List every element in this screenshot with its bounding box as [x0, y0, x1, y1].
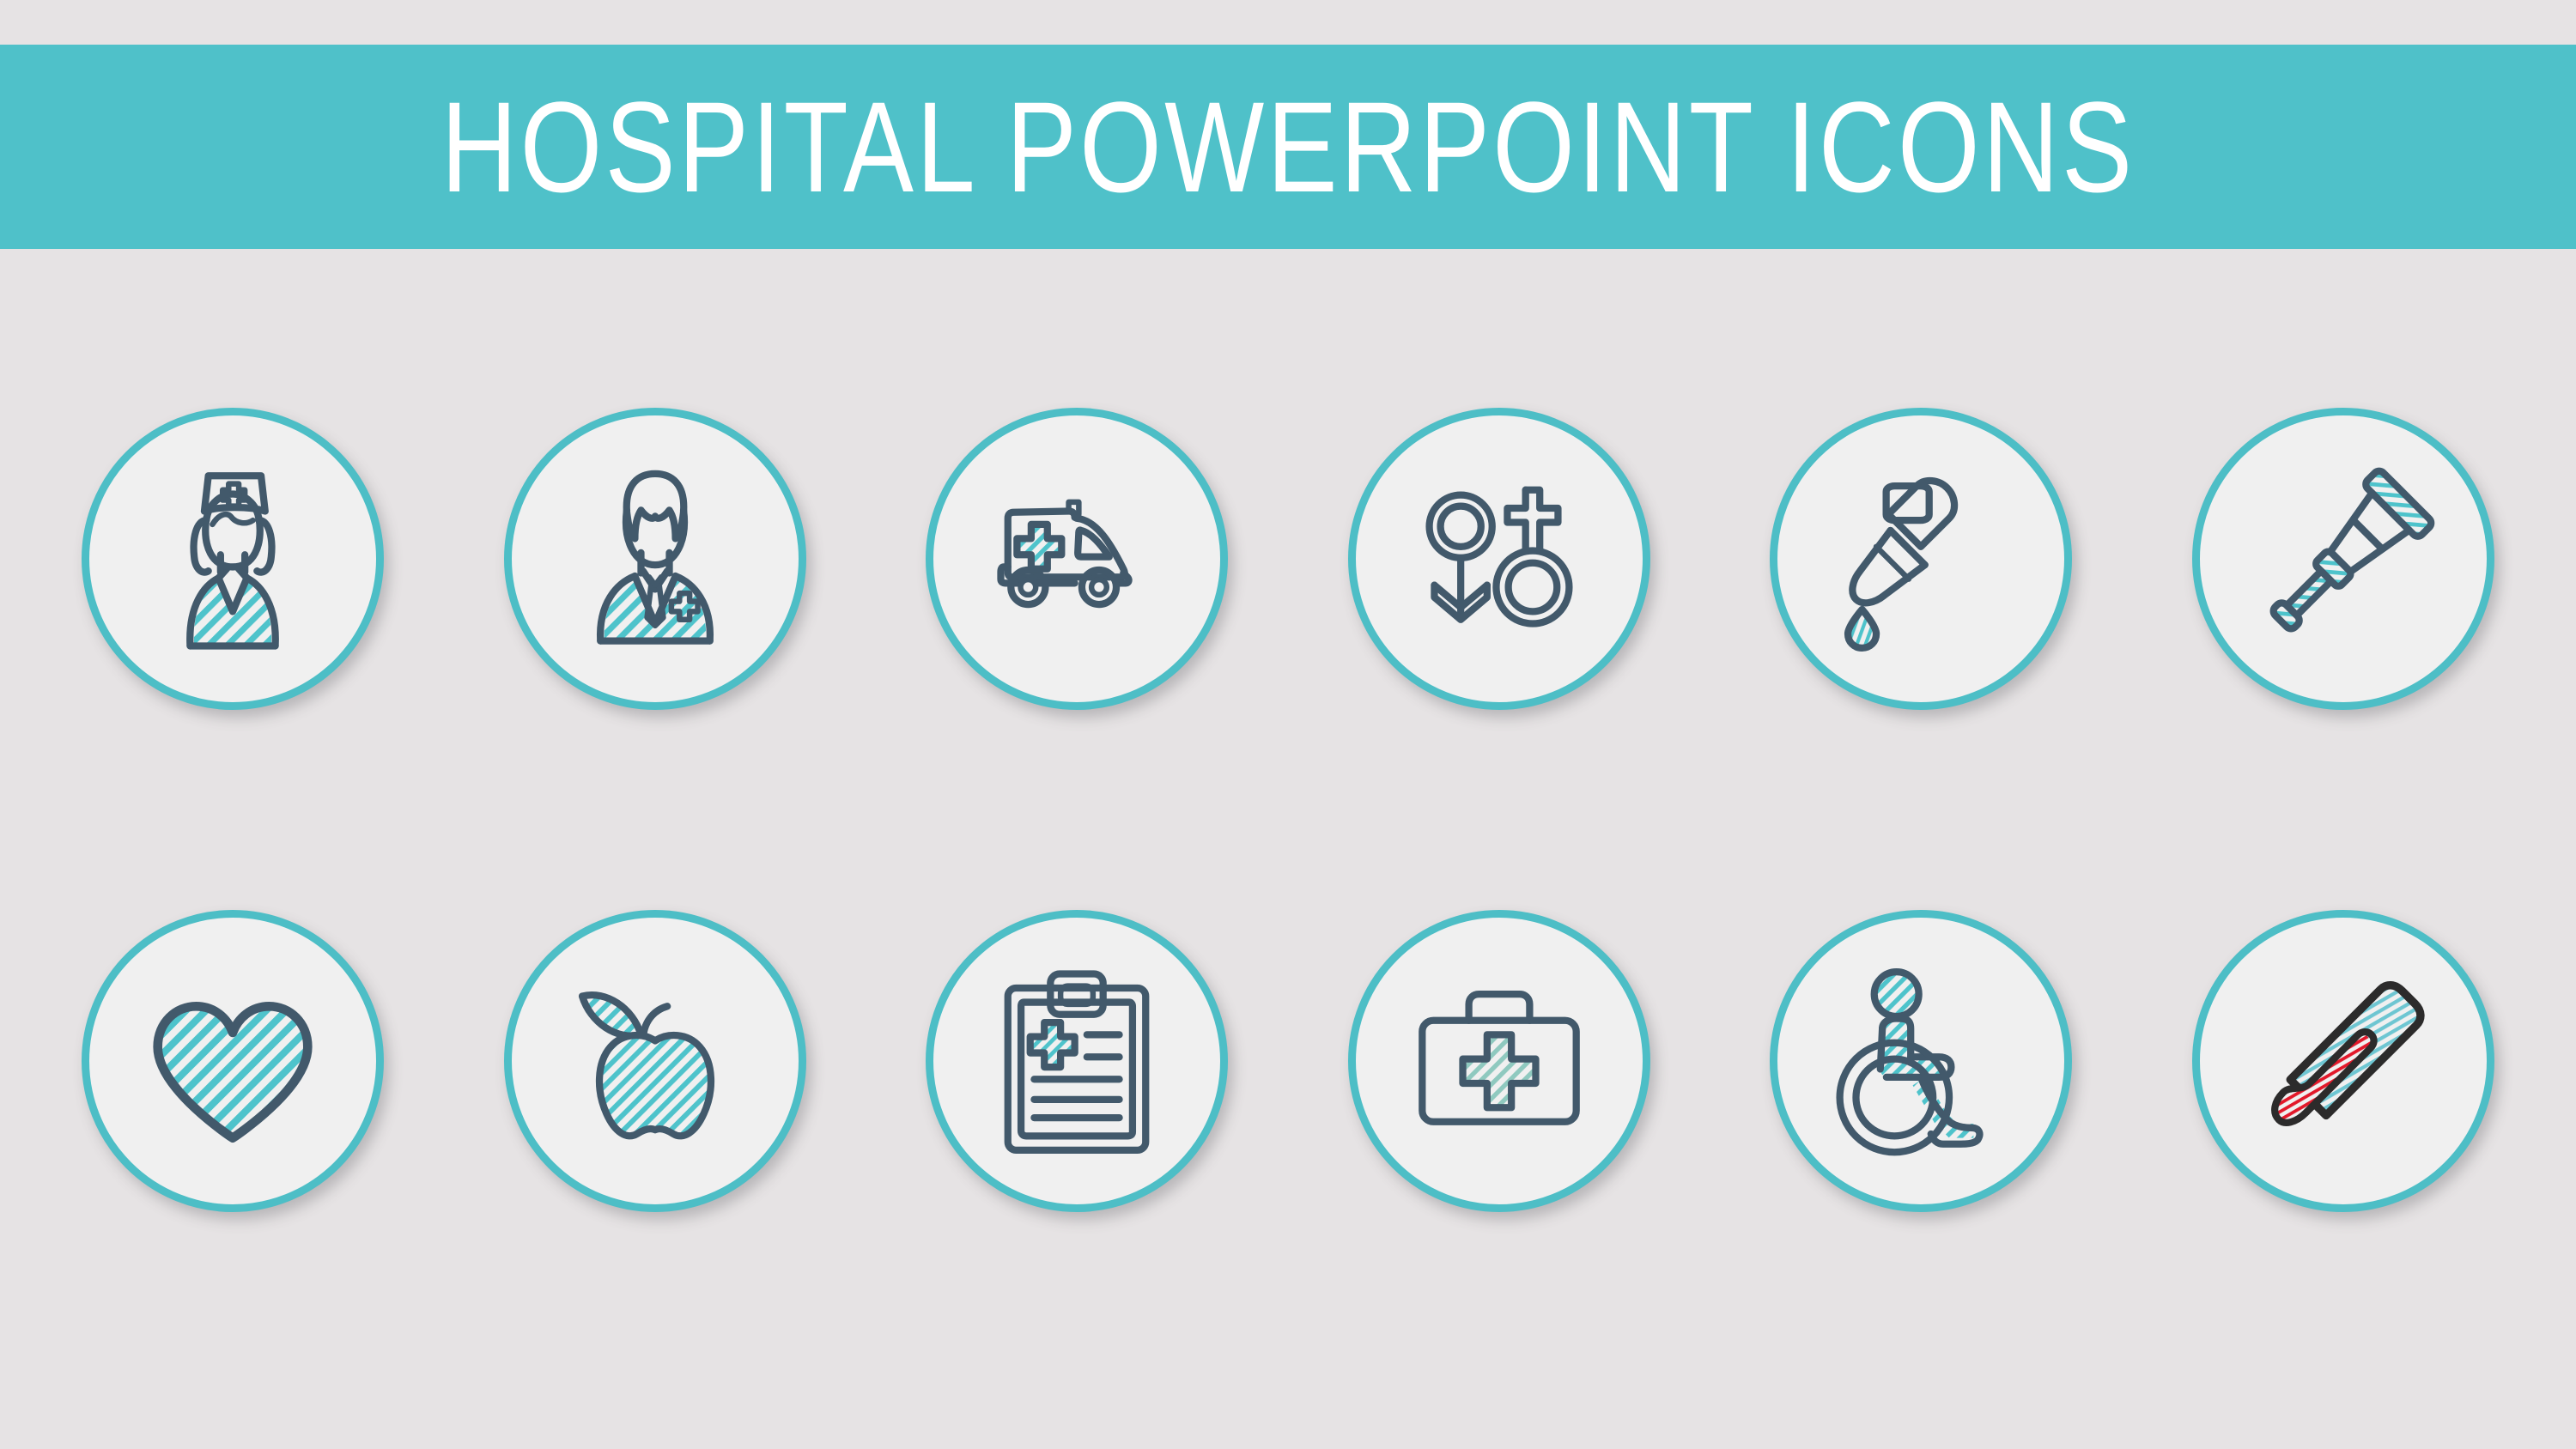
icon-badge-nurse[interactable] [82, 408, 384, 710]
nurse-icon [131, 458, 334, 660]
thermometer-icon [2242, 960, 2445, 1162]
icon-row-1 [0, 408, 2576, 751]
page-title: HOSPITAL POWERPOINT ICONS [441, 82, 2136, 211]
icon-badge-ambulance[interactable] [926, 408, 1228, 710]
first-aid-kit-icon [1398, 960, 1601, 1162]
ambulance-icon [975, 458, 1178, 660]
icon-badge-gender-symbols[interactable] [1348, 408, 1650, 710]
icon-badge-thermometer[interactable] [2192, 910, 2494, 1212]
icon-badge-medical-report[interactable] [926, 910, 1228, 1212]
icon-badge-dropper[interactable] [1770, 408, 2072, 710]
icon-grid [0, 361, 2576, 1373]
title-banner: HOSPITAL POWERPOINT ICONS [0, 45, 2576, 249]
icon-badge-wheelchair[interactable] [1770, 910, 2072, 1212]
icon-row-2 [0, 910, 2576, 1253]
doctor-icon [554, 458, 756, 660]
medical-report-icon [975, 960, 1178, 1162]
icon-badge-heart[interactable] [82, 910, 384, 1212]
dropper-icon [1820, 458, 2022, 660]
icon-badge-doctor[interactable] [504, 408, 806, 710]
icon-badge-first-aid-kit[interactable] [1348, 910, 1650, 1212]
gender-symbols-icon [1398, 458, 1601, 660]
crutch-icon [2242, 458, 2445, 660]
icon-badge-crutch[interactable] [2192, 408, 2494, 710]
wheelchair-icon [1820, 960, 2022, 1162]
apple-icon [554, 960, 756, 1162]
icon-badge-apple[interactable] [504, 910, 806, 1212]
heart-icon [131, 960, 334, 1162]
